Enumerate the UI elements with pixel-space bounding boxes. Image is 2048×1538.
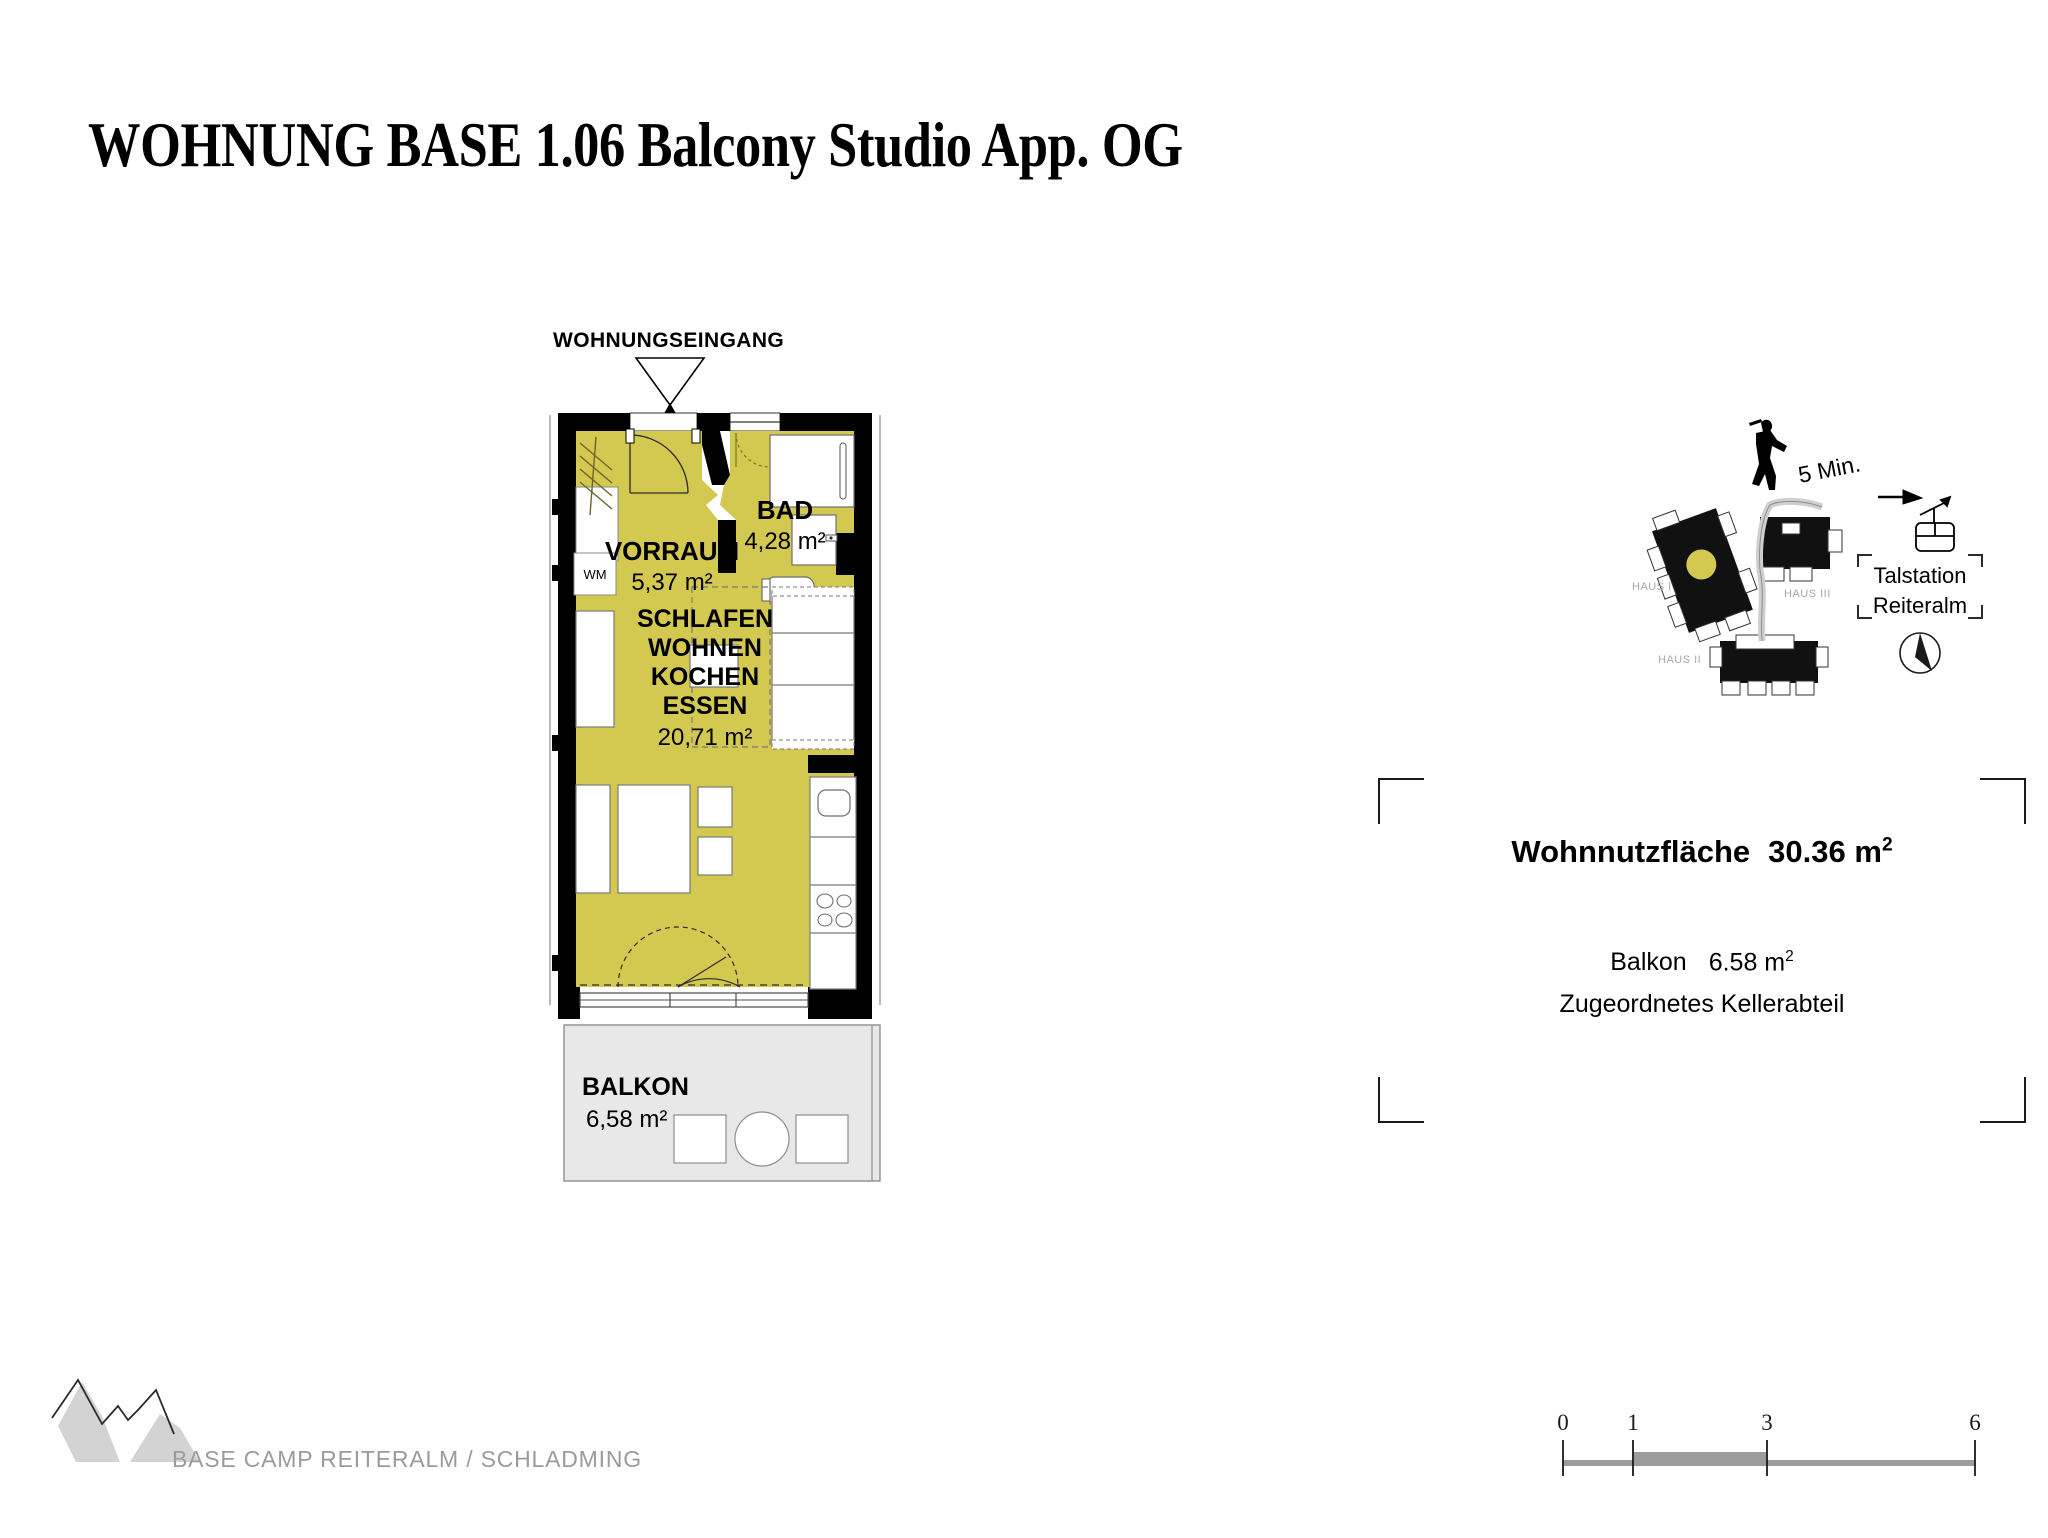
direction-arrow-icon (1878, 490, 1922, 504)
room-label-main-4: ESSEN (663, 692, 748, 720)
floorplan-drawing: WM (540, 325, 940, 1195)
page-title: WOHNUNG BASE 1.06 Balcony Studio App. OG (88, 108, 1183, 182)
station-label-line2: Reiteralm (1873, 593, 1967, 618)
balcony-area-unit: 2 (1785, 948, 1794, 965)
room-label-vorraum: VORRAUM (605, 536, 739, 566)
living-area-row: Wohnnutzfläche30.36 m2 (1378, 834, 2026, 870)
building-label-haus-3: HAUS III (1784, 588, 1831, 600)
room-label-balkon: BALKON (582, 1073, 689, 1101)
scale-tick-3: 3 (1761, 1410, 1773, 1436)
balcony-area-label: Balkon (1610, 948, 1686, 976)
room-label-main-2: WOHNEN (648, 634, 762, 662)
station-label-line1: Talstation (1874, 563, 1967, 588)
room-area-balkon: 6,58 m² (586, 1106, 667, 1133)
building-haus-3 (1760, 517, 1842, 581)
living-area-label: Wohnnutzfläche (1511, 834, 1750, 869)
brand-logo (40, 1358, 660, 1498)
compass-icon (1900, 633, 1940, 673)
cellar-row: Zugeordnetes Kellerabteil (1378, 990, 2026, 1019)
room-area-vorraum: 5,37 m² (631, 569, 712, 596)
scale-bar: 0 1 3 6 (1545, 1410, 1995, 1490)
walk-time-label: 5 Min. (1796, 450, 1862, 487)
area-summary-box: Wohnnutzfläche30.36 m2 Balkon6.58 m2 Zug… (1378, 778, 2026, 1123)
balcony-area-row: Balkon6.58 m2 (1378, 948, 2026, 977)
bracket-bottom-left (1378, 1077, 1424, 1123)
site-location-map: 5 Min. (1610, 405, 2010, 705)
wm-label: WM (583, 567, 606, 582)
scale-tick-1: 1 (1627, 1410, 1639, 1436)
room-label-main-1: SCHLAFEN (637, 605, 773, 633)
room-area-main: 20,71 m² (658, 724, 753, 751)
room-area-bad: 4,28 m² (744, 528, 825, 555)
building-label-haus-2: HAUS II (1658, 654, 1701, 666)
room-label-main-3: KOCHEN (651, 663, 759, 691)
cable-car-icon (1916, 497, 1954, 551)
building-haus-2 (1710, 635, 1828, 695)
walking-person-icon (1749, 419, 1787, 490)
scale-tick-0: 0 (1557, 1410, 1569, 1436)
cellar-label: Zugeordnetes Kellerabteil (1560, 990, 1845, 1018)
floorplan-page: WOHNUNG BASE 1.06 Balcony Studio App. OG… (0, 0, 2048, 1538)
bracket-top-left (1378, 778, 1424, 824)
living-area-unit: 2 (1882, 835, 1893, 856)
building-haus-1 (1638, 493, 1768, 648)
living-area-value: 30.36 m (1768, 834, 1882, 869)
building-label-haus-1: HAUS I (1632, 581, 1672, 593)
brand-text: BASE CAMP REITERALM / SCHLADMING (172, 1446, 642, 1473)
scale-tick-6: 6 (1969, 1410, 1981, 1436)
room-label-bad: BAD (757, 495, 813, 525)
bracket-bottom-right (1980, 1077, 2026, 1123)
balcony-area-value: 6.58 m (1709, 948, 1785, 976)
bracket-top-right (1980, 778, 2026, 824)
